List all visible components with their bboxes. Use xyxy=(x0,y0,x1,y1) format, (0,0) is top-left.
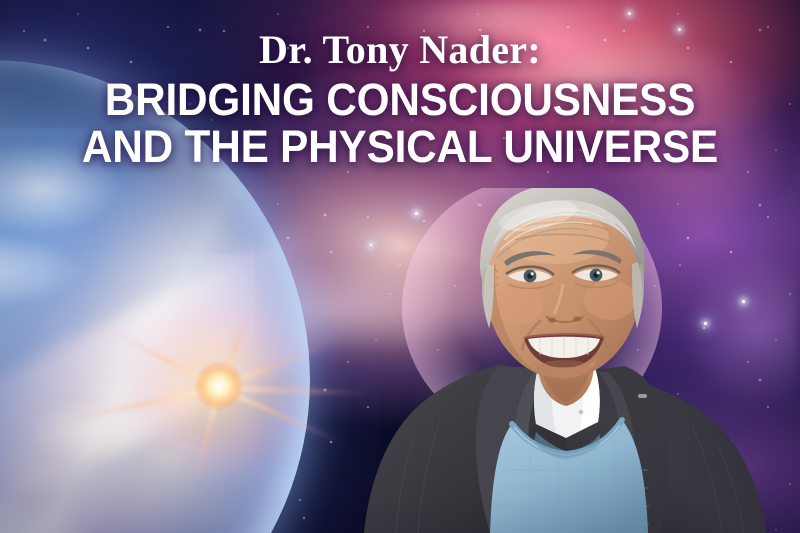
portrait-of-man xyxy=(352,188,800,533)
poster-canvas: Dr. Tony Nader: BRIDGING CONSCIOUSNESS A… xyxy=(0,0,800,533)
title-block: Dr. Tony Nader: BRIDGING CONSCIOUSNESS A… xyxy=(0,28,800,169)
shirt-button xyxy=(579,410,583,414)
headline-line-2: AND THE PHYSICAL UNIVERSE xyxy=(24,125,776,169)
sun-lens-flare xyxy=(196,363,242,409)
headline-line-1: BRIDGING CONSCIOUSNESS xyxy=(24,78,776,122)
jacket-zipper-pull xyxy=(638,394,647,398)
speaker-name: Dr. Tony Nader: xyxy=(0,28,800,71)
